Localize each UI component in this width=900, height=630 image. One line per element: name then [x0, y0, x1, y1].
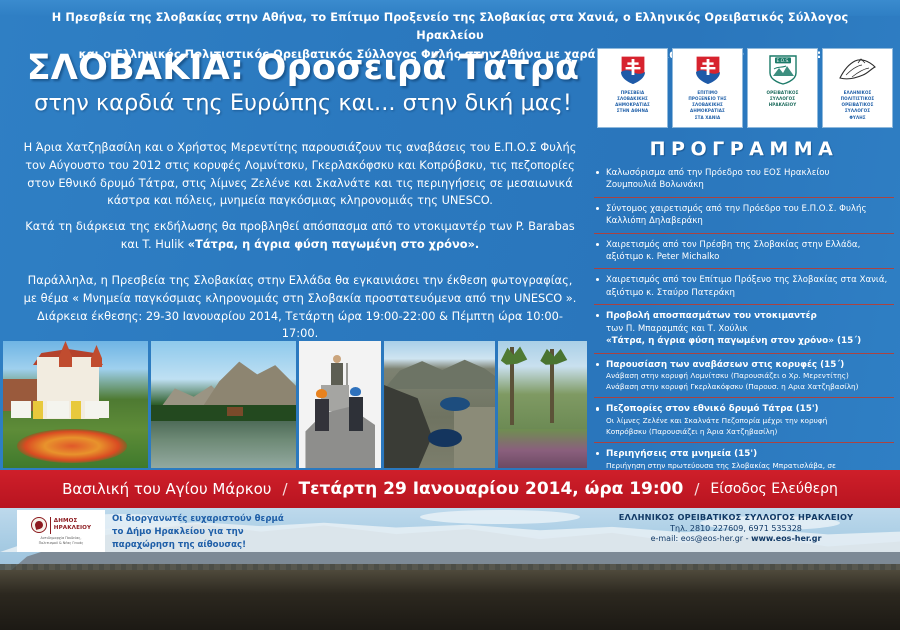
municipality-name: ΔΗΜΟΣ ΗΡΑΚΛΕΙΟΥ [54, 518, 91, 532]
slovak-embassy-logo-caption: ΠΡΕΣΒΕΙΑ ΣΛΟΒΑΚΙΚΗΣ ΔΗΜΟΚΡΑΤΙΑΣ ΣΤΗΝ ΑΘΗ… [615, 90, 650, 115]
program-item: Σύντομος χαιρετισμός από την Πρόεδρο του… [594, 203, 894, 233]
program-separator [594, 304, 894, 305]
documentary-title: «Τάτρα, η άγρια φύση παγωμένη στο χρόνο»… [188, 237, 480, 251]
program-item-line: αξιότιμο κ. Σταύρο Πατεράκη [606, 287, 892, 299]
photo-climbers [299, 341, 381, 468]
eos-heraklion-logo: E.O.S. ΟΡΕΙΒΑΤΙΚΟΣ ΣΥΛΛΟΓΟΣ ΗΡΑΚΛΕΙΟΥ [747, 48, 818, 128]
bullet-icon [596, 407, 599, 410]
program-item-line: Προβολή αποσπασμάτων του ντοκιμαντέρ [606, 310, 892, 323]
eos-shield-icon: E.O.S. [768, 52, 798, 88]
contact-block: ΕΛΛΗΝΙΚΟΣ ΟΡΕΙΒΑΤΙΚΟΣ ΣΥΛΛΟΓΟΣ ΗΡΑΚΛΕΙΟΥ… [586, 512, 886, 543]
slovak-consulate-chania-logo-caption: ΕΠΙΤΙΜΟ ΠΡΟΞΕΝΕΙΟ ΤΗΣ ΣΛΟΒΑΚΙΚΗΣ ΔΗΜΟΚΡΑ… [688, 90, 726, 121]
program-item: Πεζοπορίες στον εθνικό δρυμό Τάτρα (15')… [594, 403, 894, 442]
program-item: Χαιρετισμός από τον Πρέσβη της Σλοβακίας… [594, 239, 894, 269]
program-separator [594, 197, 894, 198]
program-item-line: Οι λίμνες Ζελένε και Σκαλνάτε Πεζοπορία … [606, 416, 892, 427]
program-item-line: «Τάτρα, η άγρια φύση παγωμένη στον χρόνο… [606, 335, 892, 348]
poster-title: ΣΛΟΒΑΚΙΑ: Οροσειρά Τάτρα [18, 50, 588, 87]
bullet-icon [596, 363, 599, 366]
program-separator [594, 353, 894, 354]
program-title: ΠΡΟΓΡΑΜΜΑ [594, 138, 894, 160]
program-item-line: Χαιρετισμός από τον Πρέσβη της Σλοβακίας… [606, 239, 892, 251]
epos-fylis-logo: ΕΛΛΗΝΙΚΟΣ ΠΟΛΙΤΙΣΤΙΚΟΣ ΟΡΕΙΒΑΤΙΚΟΣ ΣΥΛΛΟ… [822, 48, 893, 128]
program-item-line: Χαιρετισμός από τον Επίτιμο Πρόξενο της … [606, 274, 892, 286]
venue-label: Βασιλική του Αγίου Μάρκου [62, 480, 271, 498]
photo-meadow-trees [498, 341, 587, 468]
photo-town-square [3, 341, 148, 468]
banner-separator: / [282, 480, 287, 498]
program-separator [594, 233, 894, 234]
eos-heraklion-logo-caption: ΟΡΕΙΒΑΤΙΚΟΣ ΣΥΛΛΟΓΟΣ ΗΡΑΚΛΕΙΟΥ [767, 90, 799, 108]
entry-label: Είσοδος Ελεύθερη [710, 481, 838, 497]
program-item-line: των Π. Μπαραμπάς και Τ. Χούλικ [606, 323, 892, 335]
svg-text:E.O.S.: E.O.S. [776, 58, 789, 64]
bullet-icon [596, 278, 599, 281]
slovak-coat-of-arms-icon [695, 52, 721, 88]
program-separator [594, 397, 894, 398]
foreground-field [0, 570, 900, 630]
program-item-line: Κοπρόβσκυ (Παρουσιάζει η Άρια Χατζηβασίλ… [606, 427, 892, 438]
photo-alpine-tarns [384, 341, 495, 468]
bullet-icon [596, 314, 599, 317]
club-email[interactable]: e-mail: eos@eos-her.gr [651, 534, 744, 543]
bullet-icon [596, 452, 599, 455]
program-item: Χαιρετισμός από τον Επίτιμο Πρόξενο της … [594, 274, 894, 304]
club-contact-line: e-mail: eos@eos-her.gr - www.eos-her.gr [586, 534, 886, 543]
program-item-line: Ζουμπουλιά Βολωνάκη [606, 179, 892, 191]
description-paragraph-2: Κατά τη διάρκεια της εκδήλωσης θα προβλη… [22, 218, 578, 254]
club-name: ΕΛΛΗΝΙΚΟΣ ΟΡΕΙΒΑΤΙΚΟΣ ΣΥΛΛΟΓΟΣ ΗΡΑΚΛΕΙΟΥ [586, 512, 886, 522]
program-separator [594, 268, 894, 269]
program-item: Παρουσίαση των αναβάσεων στις κορυφές (1… [594, 359, 894, 398]
slovak-coat-of-arms-icon [620, 52, 646, 88]
program-item-line: Σύντομος χαιρετισμός από την Πρόεδρο του… [606, 203, 892, 215]
bullet-icon [596, 171, 599, 174]
bullet-icon [596, 207, 599, 210]
program-item: Καλωσόρισμα από την Πρόεδρο του ΕΟΣ Ηρακ… [594, 167, 894, 197]
epos-fylis-logo-caption: ΕΛΛΗΝΙΚΟΣ ΠΟΛΙΤΙΣΤΙΚΟΣ ΟΡΕΙΒΑΤΙΚΟΣ ΣΥΛΛΟ… [841, 90, 875, 121]
program-item-line: Καλωσόρισμα από την Πρόεδρο του ΕΟΣ Ηρακ… [606, 167, 892, 179]
slovak-consulate-chania-logo: ΕΠΙΤΙΜΟ ΠΡΟΞΕΝΕΙΟ ΤΗΣ ΣΛΟΒΑΚΙΚΗΣ ΔΗΜΟΚΡΑ… [672, 48, 743, 128]
event-details-banner: Βασιλική του Αγίου Μάρκου / Τετάρτη 29 Ι… [0, 470, 900, 508]
program-item-line: Παρουσίαση των αναβάσεων στις κορυφές (1… [606, 359, 892, 372]
cloud-shape [420, 510, 580, 524]
event-datetime: Τετάρτη 29 Ιανουαρίου 2014, ώρα 19:00 [299, 479, 684, 499]
program-item-line: Ανάβαση στην κορυφή Γκερλακόφσκυ (Παρουσ… [606, 382, 892, 393]
poster-subtitle: στην καρδιά της Ευρώπης και... στην δική… [18, 89, 588, 117]
program-item-line: Ανάβαση στην κορυφή Λομνίτσκυ (Παρουσιάζ… [606, 371, 892, 382]
photo-strip [3, 341, 587, 468]
photo-mountain-lake [151, 341, 296, 468]
mountain-sketch-icon [838, 52, 878, 88]
program-separator [594, 442, 894, 443]
slovak-embassy-logo: ΠΡΕΣΒΕΙΑ ΣΛΟΒΑΚΙΚΗΣ ΔΗΜΟΚΡΑΤΙΑΣ ΣΤΗΝ ΑΘΗ… [597, 48, 668, 128]
invitation-header-line1: Η Πρεσβεία της Σλοβακίας στην Αθήνα, το … [18, 9, 882, 46]
contact-separator: - [746, 534, 749, 543]
bullet-icon [596, 243, 599, 246]
program-item-line: αξιότιμο κ. Peter Michalko [606, 251, 892, 263]
municipality-department: Αντιδημαρχία Παιδείας, Πολιτισμού & Νέας… [39, 536, 84, 546]
poster-title-block: ΣΛΟΒΑΚΙΑ: Οροσειρά Τάτρα στην καρδιά της… [18, 50, 588, 117]
description-paragraph-1: Η Άρια Χατζηβασίλη και ο Χρήστος Μερεντί… [22, 139, 578, 210]
description-paragraph-3: Παράλληλα, η Πρεσβεία της Σλοβακίας στην… [22, 272, 578, 343]
divider [50, 517, 51, 534]
municipality-seal-icon [31, 517, 47, 533]
club-phone: Τηλ. 2810 227609, 6971 535328 [586, 524, 886, 533]
heraklion-municipality-logo: ΔΗΜΟΣ ΗΡΑΚΛΕΙΟΥ Αντιδημαρχία Παιδείας, Π… [17, 510, 105, 552]
program-item-line: Πεζοπορίες στον εθνικό δρυμό Τάτρα (15') [606, 403, 892, 416]
thanks-note: Οι διοργανωτές ευχαριστούν θερμά το Δήμο… [112, 513, 292, 552]
program-section: ΠΡΟΓΡΑΜΜΑ Καλωσόρισμα από την Πρόεδρο το… [594, 138, 894, 497]
banner-separator: / [694, 480, 699, 498]
event-poster: Η Πρεσβεία της Σλοβακίας στην Αθήνα, το … [0, 0, 900, 630]
organizer-logos: ΠΡΕΣΒΕΙΑ ΣΛΟΒΑΚΙΚΗΣ ΔΗΜΟΚΡΑΤΙΑΣ ΣΤΗΝ ΑΘΗ… [597, 48, 893, 128]
club-website[interactable]: www.eos-her.gr [751, 534, 821, 543]
program-item-line: Περιηγήσεις στα μνημεία (15') [606, 448, 892, 461]
program-item-line: Καλλιόπη Δηλαβεράκη [606, 215, 892, 227]
program-item: Προβολή αποσπασμάτων του ντοκιμαντέρ των… [594, 310, 894, 353]
